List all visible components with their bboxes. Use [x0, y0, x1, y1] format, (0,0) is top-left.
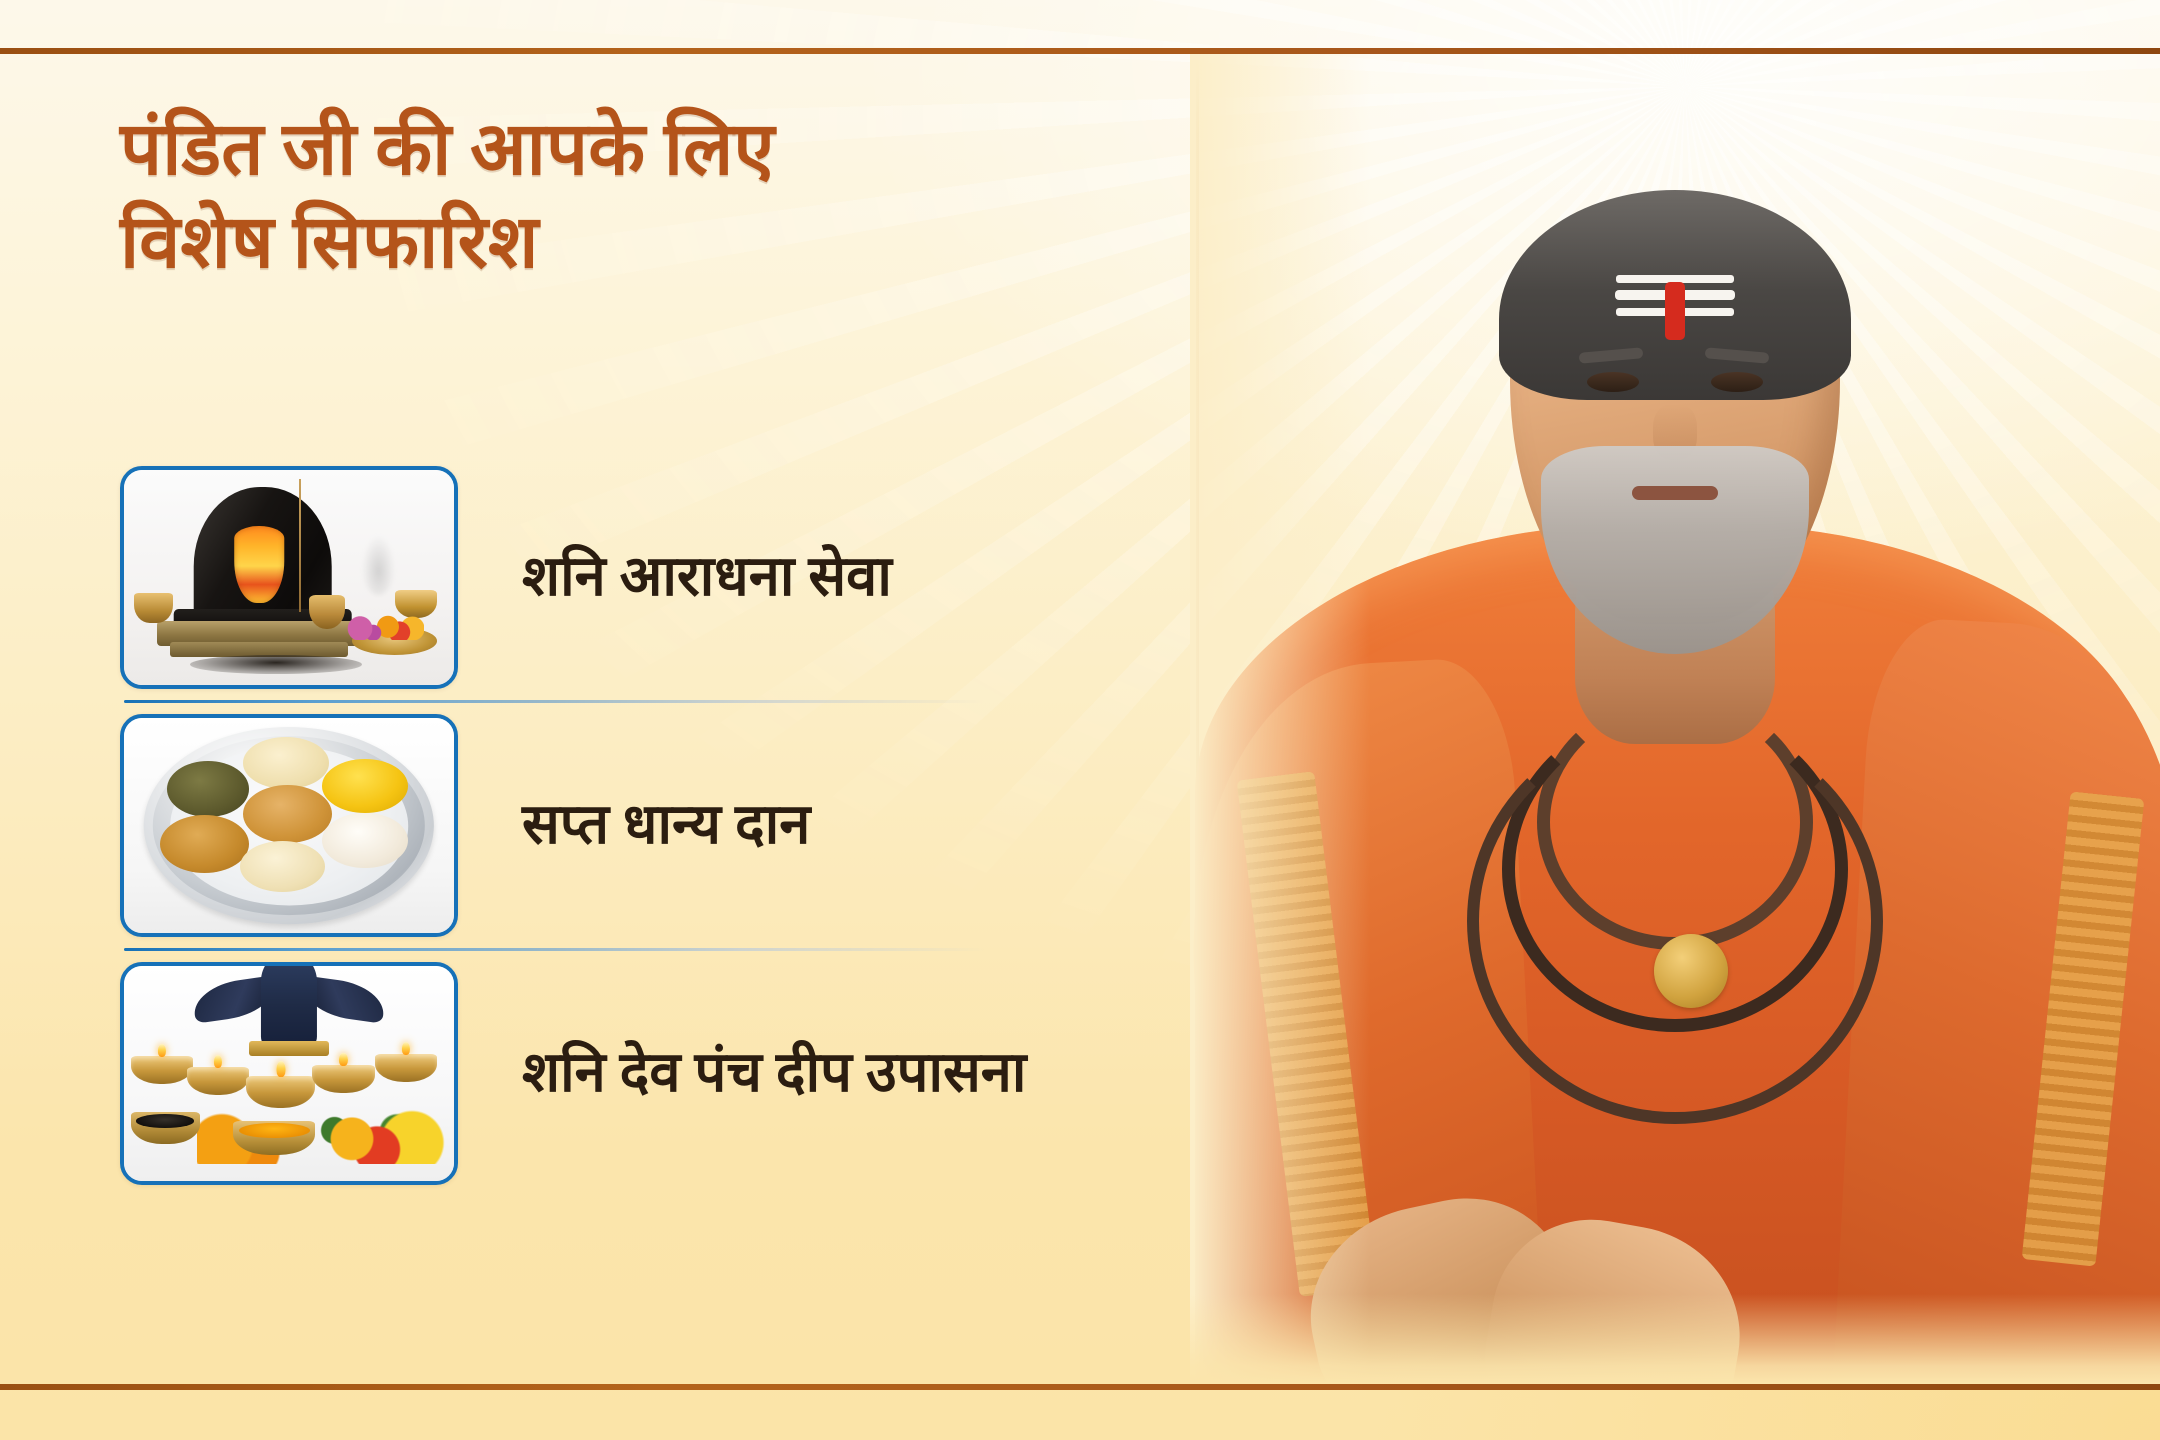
page-title-line-2: विशेष सिफारिश — [120, 197, 1160, 290]
five-diyas-scene — [124, 966, 454, 1181]
list-item[interactable]: सप्त धान्य दान — [120, 703, 1130, 948]
portrait-left-fade — [1190, 54, 1370, 1384]
bottom-rule — [0, 1384, 2160, 1390]
portrait-bottom-fade — [1190, 1294, 2160, 1384]
banner-root: पंडित जी की आपके लिए विशेष सिफारिश — [0, 0, 2160, 1440]
brass-lamp-left-icon — [134, 593, 174, 623]
list-item[interactable]: शनि देव पंच दीप उपासना — [120, 951, 1130, 1196]
recommendation-list: शनि आराधना सेवा सप्त धान्य दान — [120, 455, 1130, 1196]
page-title-line-1: पंडित जी की आपके लिए — [120, 104, 1160, 197]
incense-stick-icon — [299, 479, 301, 612]
eye-left — [1587, 372, 1639, 392]
red-tilak-icon — [1665, 282, 1685, 340]
page-title: पंडित जी की आपके लिए विशेष सिफारिश — [120, 104, 1160, 290]
list-item[interactable]: शनि आराधना सेवा — [120, 455, 1130, 700]
gold-pendant-icon — [1654, 934, 1728, 1008]
grain-millet-icon — [240, 841, 326, 893]
grain-rice-icon — [322, 813, 408, 869]
incense-smoke-icon — [362, 535, 395, 595]
rudraksha-mala-3-icon — [1467, 718, 1883, 1124]
idol-base-icon — [249, 1041, 328, 1056]
black-sesame-seeds-icon — [190, 655, 362, 674]
list-item-label: शनि आराधना सेवा — [522, 547, 892, 609]
seven-grains-scene — [124, 718, 454, 933]
shani-idol-scene — [124, 470, 454, 685]
shani-dev-five-diyas-thumbnail[interactable] — [120, 962, 458, 1185]
mouth — [1632, 486, 1718, 500]
shani-idol-puja-thumbnail[interactable] — [120, 466, 458, 689]
shani-dev-figure-icon — [261, 962, 317, 1048]
seven-grains-thali-thumbnail[interactable] — [120, 714, 458, 937]
grain-wheat-icon — [243, 785, 332, 843]
grain-green-moong-icon — [167, 761, 250, 817]
eye-right — [1711, 372, 1763, 392]
grain-yellow-dal-icon — [322, 759, 408, 813]
pandit-portrait — [1190, 54, 2160, 1384]
marigold-garland-icon — [235, 526, 285, 603]
flower-offerings-icon — [342, 610, 425, 640]
list-item-label: सप्त धान्य दान — [522, 795, 810, 857]
grain-masoor-icon — [160, 815, 249, 873]
list-item-label: शनि देव पंच दीप उपासना — [522, 1043, 1026, 1105]
grain-semolina-icon — [243, 737, 329, 789]
